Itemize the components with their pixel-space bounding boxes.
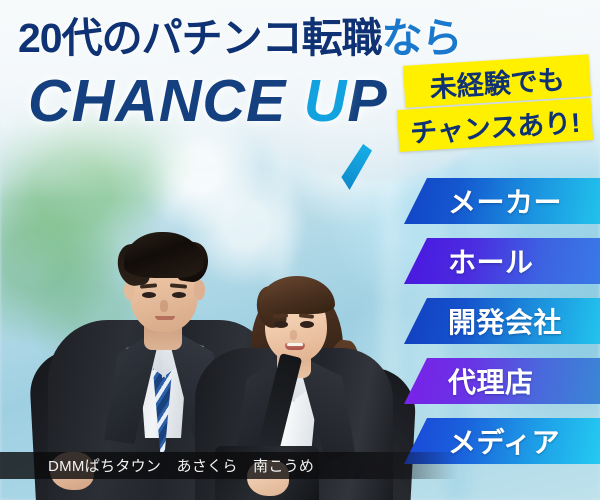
credit-band: DMMぱちタウン あさくら 南こうめ — [0, 452, 458, 479]
woman-bangs — [259, 276, 335, 314]
business-couple-photo — [0, 155, 430, 500]
woman-teeth — [287, 343, 303, 346]
category-label: ホール — [448, 241, 534, 281]
category-button-agency[interactable]: 代理店 — [404, 358, 600, 404]
woman-eye-right — [300, 321, 314, 328]
woman-nose — [290, 330, 297, 340]
logo-letter-u: U — [304, 68, 348, 134]
category-label: 開発会社 — [448, 301, 562, 341]
man-hair — [124, 232, 204, 278]
man-nose — [160, 300, 168, 312]
experience-badge: 未経験でも チャンスあり! — [398, 58, 594, 154]
headline-suffix: なら — [382, 15, 462, 61]
man-mouth — [155, 316, 175, 320]
category-list: メーカー ホール 開発会社 代理店 メディア — [404, 178, 600, 486]
man-eye-left — [142, 292, 156, 298]
headline: 20代のパチンコ転職なら — [18, 18, 462, 59]
category-label: メディア — [448, 421, 560, 461]
credit-text: DMMぱちタウン あさくら 南こうめ — [48, 455, 314, 476]
man-eye-right — [172, 292, 186, 298]
category-label: 代理店 — [448, 361, 534, 401]
category-label: メーカー — [448, 181, 562, 221]
category-button-hall[interactable]: ホール — [404, 238, 600, 284]
woman-eye-left — [274, 321, 288, 328]
recruitment-banner: 20代のパチンコ転職なら CHANCE UP 未経験でも チャンスあり! メーカ… — [0, 0, 600, 500]
badge-text-line1: 未経験でも — [428, 57, 565, 104]
chance-up-logo: CHANCE UP — [28, 72, 388, 131]
logo-letter-p: P — [347, 68, 387, 134]
headline-main: 20代のパチンコ転職 — [18, 15, 382, 61]
badge-text-line2: チャンスあり! — [409, 100, 581, 150]
category-button-developer[interactable]: 開発会社 — [404, 298, 600, 344]
logo-word-chance: CHANCE — [28, 68, 304, 134]
category-button-maker[interactable]: メーカー — [404, 178, 600, 224]
